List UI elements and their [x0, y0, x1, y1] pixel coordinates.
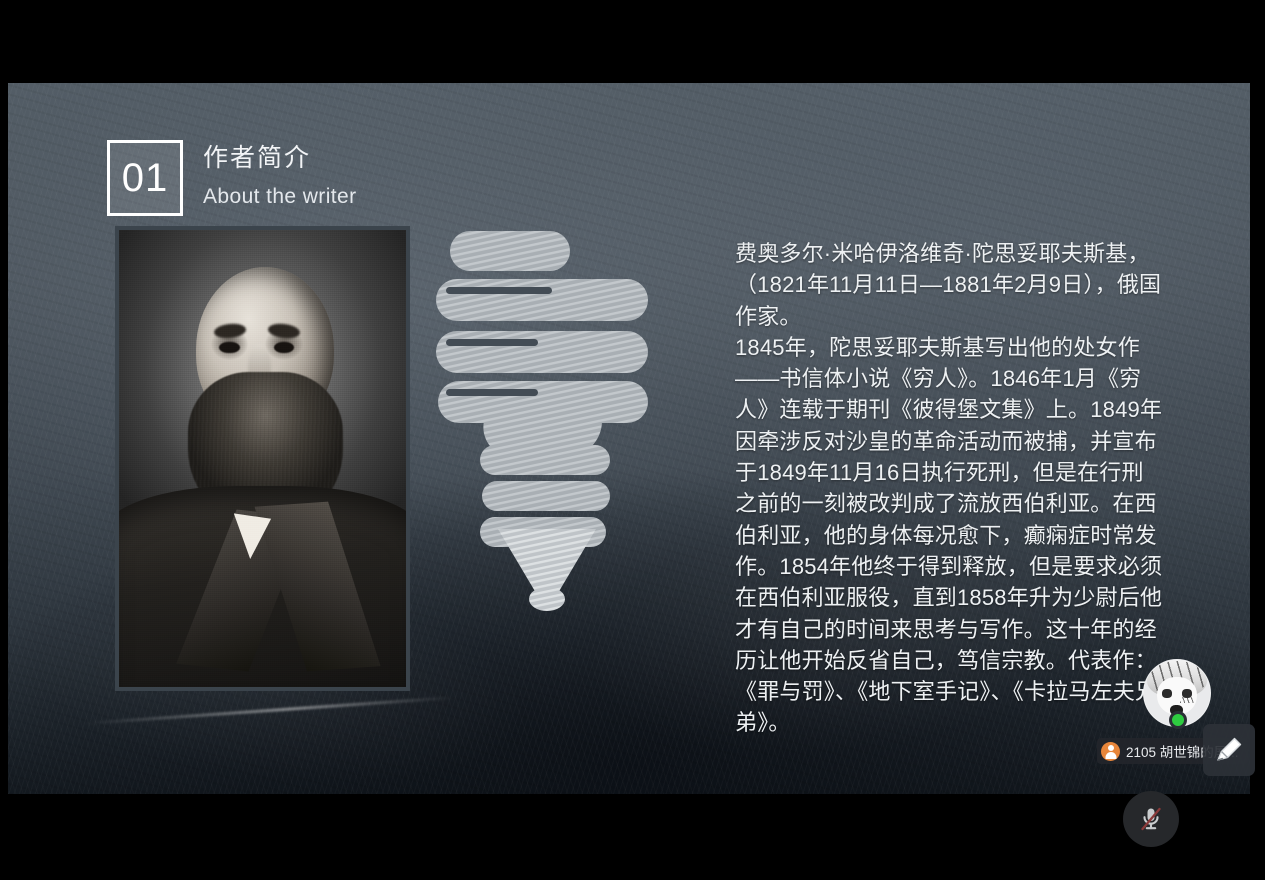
speaking-status-indicator — [1169, 711, 1187, 729]
avatar-eye — [1162, 689, 1172, 698]
portrait-frame — [115, 226, 410, 691]
lightbulb-icon — [428, 223, 673, 613]
chalk-streak — [83, 696, 455, 725]
screen: 01 作者简介 About the writer — [0, 0, 1265, 880]
section-title-en: About the writer — [203, 182, 356, 212]
writer-portrait-image — [119, 230, 406, 687]
portrait-eye — [219, 342, 239, 354]
avatar-cheek-shading — [1180, 697, 1195, 703]
presentation-slide[interactable]: 01 作者简介 About the writer — [8, 83, 1250, 794]
section-number-badge: 01 — [107, 140, 183, 216]
section-number-label: 01 — [122, 158, 169, 198]
section-header: 01 作者简介 About the writer — [107, 140, 356, 216]
microphone-muted-icon[interactable] — [1123, 791, 1179, 847]
pencil-annotation-icon[interactable] — [1203, 724, 1255, 776]
participant-avatar-wrap[interactable] — [1143, 659, 1211, 727]
section-title-cn: 作者简介 — [203, 142, 356, 176]
section-header-text: 作者简介 About the writer — [203, 142, 356, 214]
slide-body-text: 费奥多尔·米哈伊洛维奇·陀思妥耶夫斯基，（1821年11月11日—1881年2月… — [735, 238, 1163, 739]
person-icon — [1101, 742, 1120, 761]
